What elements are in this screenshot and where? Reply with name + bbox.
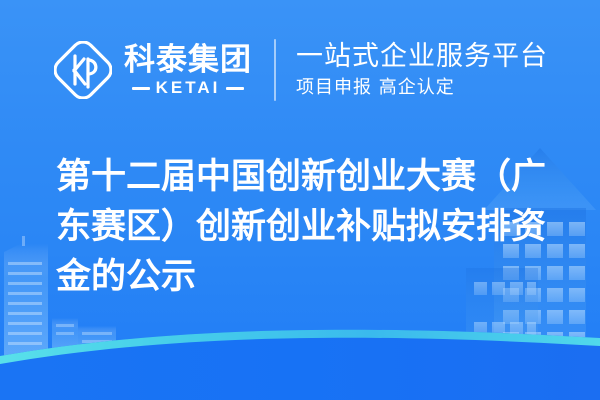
tagline-secondary: 项目申报 高企认定 bbox=[296, 76, 548, 100]
logo-mark-svg bbox=[54, 41, 112, 99]
logo-company-name-cn: 科泰集团 bbox=[124, 43, 252, 77]
banner-header: 科泰集团 KETAI 一站式企业服务平台 项目申报 高企认定 bbox=[0, 0, 600, 140]
ketai-diamond-kp-monogram-icon bbox=[54, 41, 112, 99]
ketai-logo: 科泰集团 KETAI bbox=[54, 41, 252, 99]
logo-dash-right bbox=[226, 87, 244, 90]
header-divider bbox=[274, 39, 276, 101]
announcement-banner: 科泰集团 KETAI 一站式企业服务平台 项目申报 高企认定 第十二届中国创新创… bbox=[0, 0, 600, 400]
logo-dash-left bbox=[132, 87, 150, 90]
tagline-primary: 一站式企业服务平台 bbox=[296, 41, 548, 73]
logo-en-row: KETAI bbox=[124, 79, 252, 97]
header-tagline: 一站式企业服务平台 项目申报 高企认定 bbox=[296, 41, 548, 100]
logo-company-name-en: KETAI bbox=[156, 79, 221, 97]
page-title: 第十二届中国创新创业大赛（广东赛区）创新创业补贴拟安排资金的公示 bbox=[56, 152, 566, 302]
left-skyscraper bbox=[4, 236, 48, 356]
logo-wordmark: 科泰集团 KETAI bbox=[124, 43, 252, 97]
